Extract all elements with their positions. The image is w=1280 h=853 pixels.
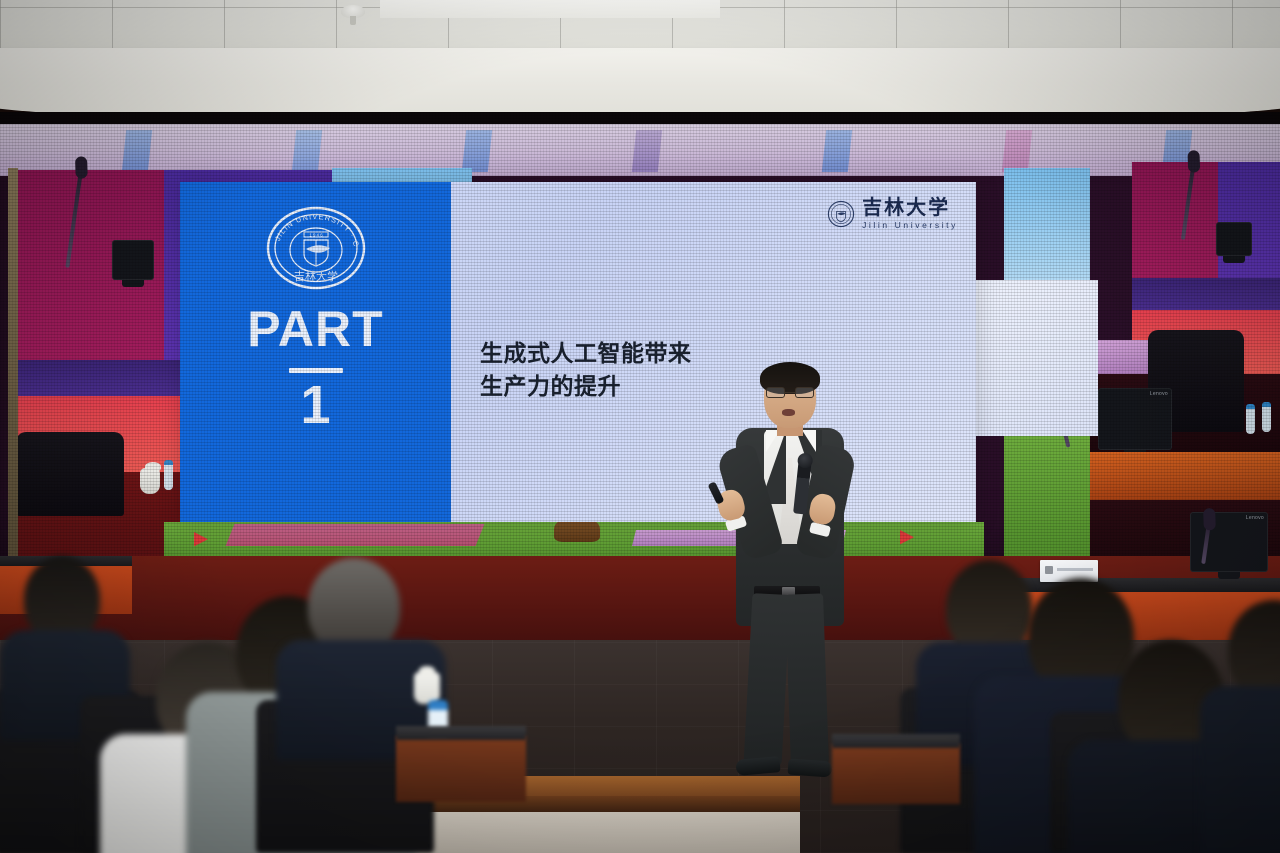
lenovo-brand-label: Lenovo: [1150, 391, 1168, 397]
feed-panel-magenta-right: [1132, 162, 1218, 286]
slide-part-number: 1: [180, 378, 451, 432]
feed-campus-grass-right: [1004, 428, 1090, 560]
jilin-university-seal-icon: JILIN UNIVERSITY · CHINA 1 9 4 6 吉林大学: [264, 204, 368, 292]
speaker-shoe-right: [787, 758, 832, 777]
audience-member-right-4: [1218, 600, 1280, 853]
front-desk-right: [832, 744, 960, 804]
feed-inner-screen: [956, 280, 1098, 436]
svg-text:JILIN UNIVERSITY · CHINA: JILIN UNIVERSITY · CHINA: [264, 204, 361, 248]
front-desk-left: [396, 736, 526, 802]
jilin-university-logo: 吉林大学 Jilin University: [827, 198, 958, 230]
feed-running-track-center: [226, 524, 485, 546]
feed-pillar-left: [8, 168, 18, 560]
smoke-detector-icon: [341, 5, 365, 18]
speaker-glasses-icon: [766, 387, 814, 398]
feed-desk-front-right: [1090, 452, 1280, 502]
jilin-university-name-en: Jilin University: [862, 221, 958, 230]
slide-accent-panel: JILIN UNIVERSITY · CHINA 1 9 4 6 吉林大学 PA…: [180, 182, 451, 522]
feed-desk-violet-right: [1132, 278, 1280, 312]
feed-lenovo-monitor-right: Lenovo: [1098, 388, 1172, 450]
feed-chair-left: [16, 432, 124, 516]
front-desk-top-left: [396, 726, 526, 740]
audience-member-left-4: [288, 558, 428, 748]
feed-bottle-right-1: [1246, 404, 1255, 434]
front-desk-top-right: [832, 734, 960, 748]
feed-bottle-left-1: [164, 460, 173, 490]
speaker-presenter: [690, 362, 868, 792]
slide-part-divider: [289, 368, 343, 373]
ceiling-light-panel: [380, 0, 720, 18]
slide-part-label: PART: [180, 304, 451, 354]
audience-head: [1228, 600, 1280, 700]
lenovo-brand-label-desk: Lenovo: [1246, 515, 1264, 521]
speaker-leg-left: [744, 593, 791, 767]
speaker-collar-right: [802, 430, 816, 452]
lecture-hall-photo: Lenovo JILIN UNIVERSITY · CHINA: [0, 0, 1280, 853]
feed-bottle-right-2: [1262, 402, 1271, 432]
jilin-university-mini-seal-icon: [827, 200, 855, 228]
audience-body: [1200, 686, 1280, 853]
feed-monitor-right: [1216, 222, 1252, 256]
speaker-leg-right: [785, 593, 829, 766]
feed-teacup-left: [140, 468, 160, 494]
led-video-wall: Lenovo JILIN UNIVERSITY · CHINA: [0, 112, 1280, 560]
svg-text:1 9 4 6: 1 9 4 6: [309, 232, 323, 237]
speaker-mouth: [782, 409, 795, 416]
jilin-university-name-cn: 吉林大学: [862, 198, 958, 218]
floor-front-of-stage: [380, 812, 800, 853]
feed-monitor-left: [112, 240, 154, 280]
svg-text:吉林大学: 吉林大学: [294, 269, 338, 283]
speaker-shoe-left: [735, 756, 780, 776]
